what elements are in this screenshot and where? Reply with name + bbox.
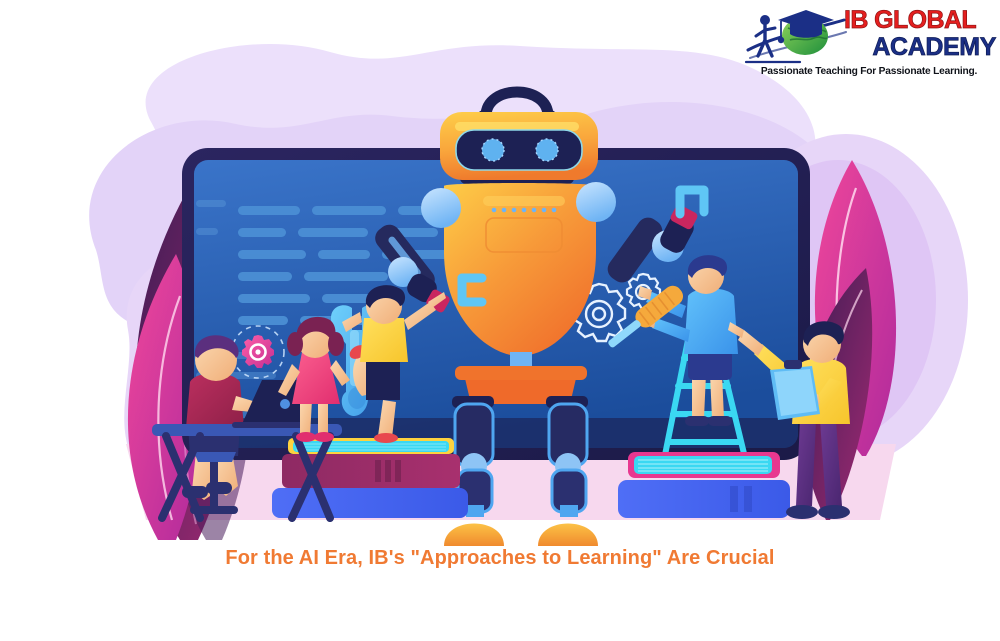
page-title: For the AI Era, IB's "Approaches to Lear… <box>0 547 1000 570</box>
brand-logo[interactable]: IB GLOBAL ACADEMY Passionate Teaching Fo… <box>744 4 994 90</box>
brand-line-1: IB GLOBAL <box>844 7 996 34</box>
screenshot-canvas: IB GLOBAL ACADEMY Passionate Teaching Fo… <box>0 0 1000 641</box>
book-stack-right <box>618 452 790 518</box>
graduation-globe-walking-person-icon <box>744 6 848 68</box>
brand-wordmark: IB GLOBAL ACADEMY <box>844 7 996 65</box>
brand-line-2: ACADEMY <box>844 34 996 61</box>
brand-tagline: Passionate Teaching For Passionate Learn… <box>744 66 994 77</box>
